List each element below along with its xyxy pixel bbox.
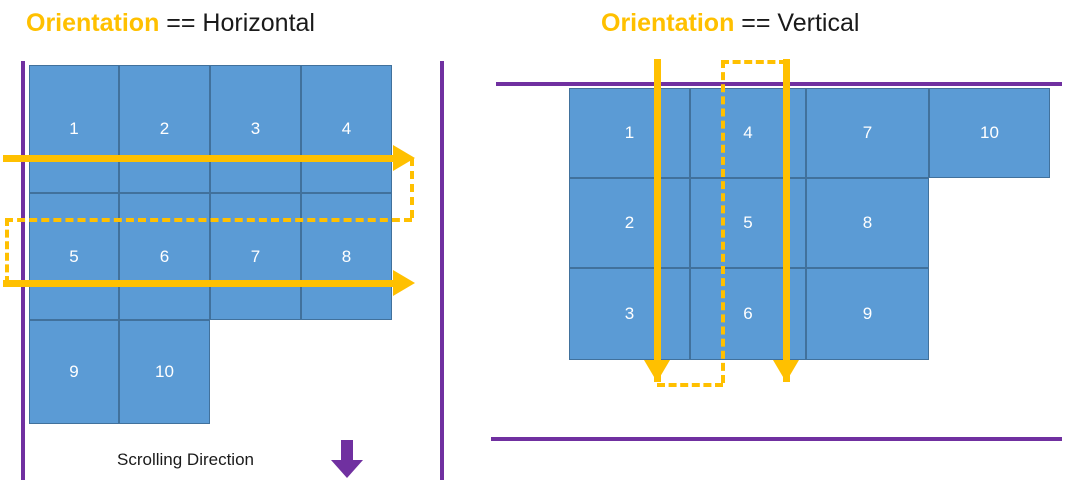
- flow-arrow-row2-shaft: [3, 280, 395, 287]
- grid-cell: 9: [806, 268, 929, 360]
- grid-cell-label: 6: [743, 304, 752, 324]
- wrap-guide-horizontal-bottom: [657, 383, 723, 387]
- wrap-guide-vertical-right: [410, 158, 414, 218]
- grid-cell-label: 4: [743, 123, 752, 143]
- grid-cell: 7: [210, 193, 301, 320]
- panel-orientation-horizontal: Orientation == Horizontal 1 2 3 4 5 6 7 …: [0, 0, 480, 502]
- grid-cell-label: 5: [69, 247, 78, 267]
- grid-cell: 2: [569, 178, 690, 268]
- page-title-vertical: Orientation == Vertical: [601, 8, 859, 38]
- grid-cell-label: 9: [69, 362, 78, 382]
- title-keyword: Orientation: [601, 9, 734, 37]
- grid-cell-label: 2: [625, 213, 634, 233]
- grid-cell: 9: [29, 320, 119, 424]
- page-title-horizontal: Orientation == Horizontal: [26, 8, 315, 38]
- arrow-down-icon: [644, 360, 670, 382]
- grid-cell-label: 10: [980, 123, 999, 143]
- grid-cell-label: 8: [342, 247, 351, 267]
- grid-cell-label: 4: [342, 119, 351, 139]
- grid-cell-label: 3: [251, 119, 260, 139]
- arrow-down-icon: [330, 440, 364, 478]
- boundary-top: [496, 82, 1062, 86]
- title-rest: == Horizontal: [159, 9, 315, 37]
- grid-cell: 1: [569, 88, 690, 178]
- title-keyword: Orientation: [26, 9, 159, 37]
- grid-cell-label: 3: [625, 304, 634, 324]
- grid-cell-label: 1: [69, 119, 78, 139]
- grid-cell-label: 8: [863, 213, 872, 233]
- grid-cell: 6: [119, 193, 210, 320]
- grid-cell: 10: [929, 88, 1050, 178]
- flow-arrow-col1-shaft: [654, 59, 661, 382]
- grid-cell-label: 2: [160, 119, 169, 139]
- diagram-canvas: Orientation == Horizontal 1 2 3 4 5 6 7 …: [0, 0, 1080, 502]
- grid-cell: 7: [806, 88, 929, 178]
- grid-cell-label: 7: [863, 123, 872, 143]
- grid-cell: 8: [301, 193, 392, 320]
- flow-arrow-col2-shaft: [783, 59, 790, 382]
- arrow-down-icon: [773, 360, 799, 382]
- grid-cell: 4: [301, 65, 392, 193]
- grid-cell-label: 5: [743, 213, 752, 233]
- panel-orientation-vertical: Orientation == Vertical 1 2 3 4 5 6 7 8 …: [480, 0, 1080, 502]
- grid-cell: 5: [29, 193, 119, 320]
- grid-cell-label: 6: [160, 247, 169, 267]
- grid-cell: 2: [119, 65, 210, 193]
- grid-cell-label: 10: [155, 362, 174, 382]
- grid-cell: 1: [29, 65, 119, 193]
- boundary-bottom: [491, 437, 1062, 441]
- grid-cell: 10: [119, 320, 210, 424]
- title-rest: == Vertical: [734, 9, 859, 37]
- wrap-guide-horizontal-top: [721, 60, 787, 64]
- grid-cell-label: 7: [251, 247, 260, 267]
- grid-cell: 3: [210, 65, 301, 193]
- flow-arrow-row1-shaft: [3, 155, 395, 162]
- grid-cell-label: 1: [625, 123, 634, 143]
- grid-cell: 8: [806, 178, 929, 268]
- scrolling-direction-label: Scrolling Direction: [117, 450, 254, 470]
- boundary-left: [21, 61, 25, 480]
- grid-cell: 3: [569, 268, 690, 360]
- wrap-guide-horizontal: [5, 218, 412, 222]
- grid-cell-label: 9: [863, 304, 872, 324]
- wrap-guide-vertical-left: [5, 218, 9, 284]
- boundary-right: [440, 61, 444, 480]
- wrap-guide-vertical: [721, 60, 725, 383]
- arrow-right-icon: [393, 270, 415, 296]
